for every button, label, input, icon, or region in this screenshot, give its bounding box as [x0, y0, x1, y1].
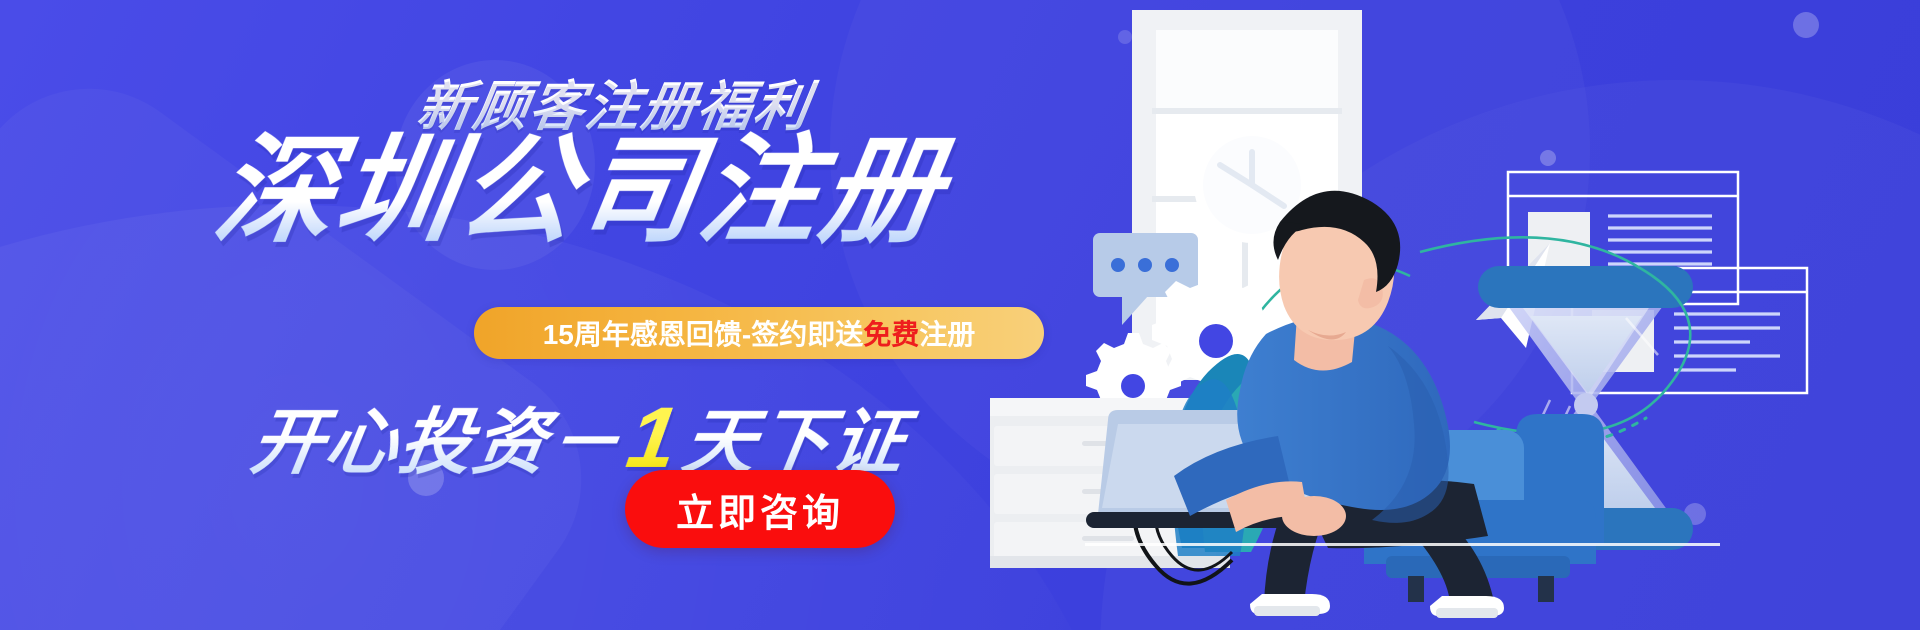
promo-badge-lead: 15周年感恩回馈-签约即送 — [543, 313, 863, 353]
consult-now-button[interactable]: 立即咨询 — [625, 470, 895, 548]
floor-line — [1085, 543, 1720, 546]
sub-headline: 开心投资－1天下证 — [0, 383, 1128, 488]
promo-badge: 15周年感恩回馈-签约即送免费注册 — [474, 307, 1044, 359]
person-shoes — [1250, 594, 1504, 618]
banner-copy: 新顾客注册福利 深圳公司注册 15周年感恩回馈-签约即送免费注册 开心投资－1天… — [0, 0, 1120, 630]
page-title: 深圳公司注册 — [0, 125, 1130, 257]
promo-badge-tail: 注册 — [919, 313, 975, 353]
promo-badge-highlight: 免费 — [863, 313, 919, 353]
hourglass-cap-top — [1478, 266, 1693, 308]
promo-banner: 新顾客注册福利 深圳公司注册 15周年感恩回馈-签约即送免费注册 开心投资－1天… — [0, 0, 1920, 630]
hero-illustration — [990, 0, 1920, 630]
sub-headline-before: 开心投资－ — [246, 403, 629, 483]
